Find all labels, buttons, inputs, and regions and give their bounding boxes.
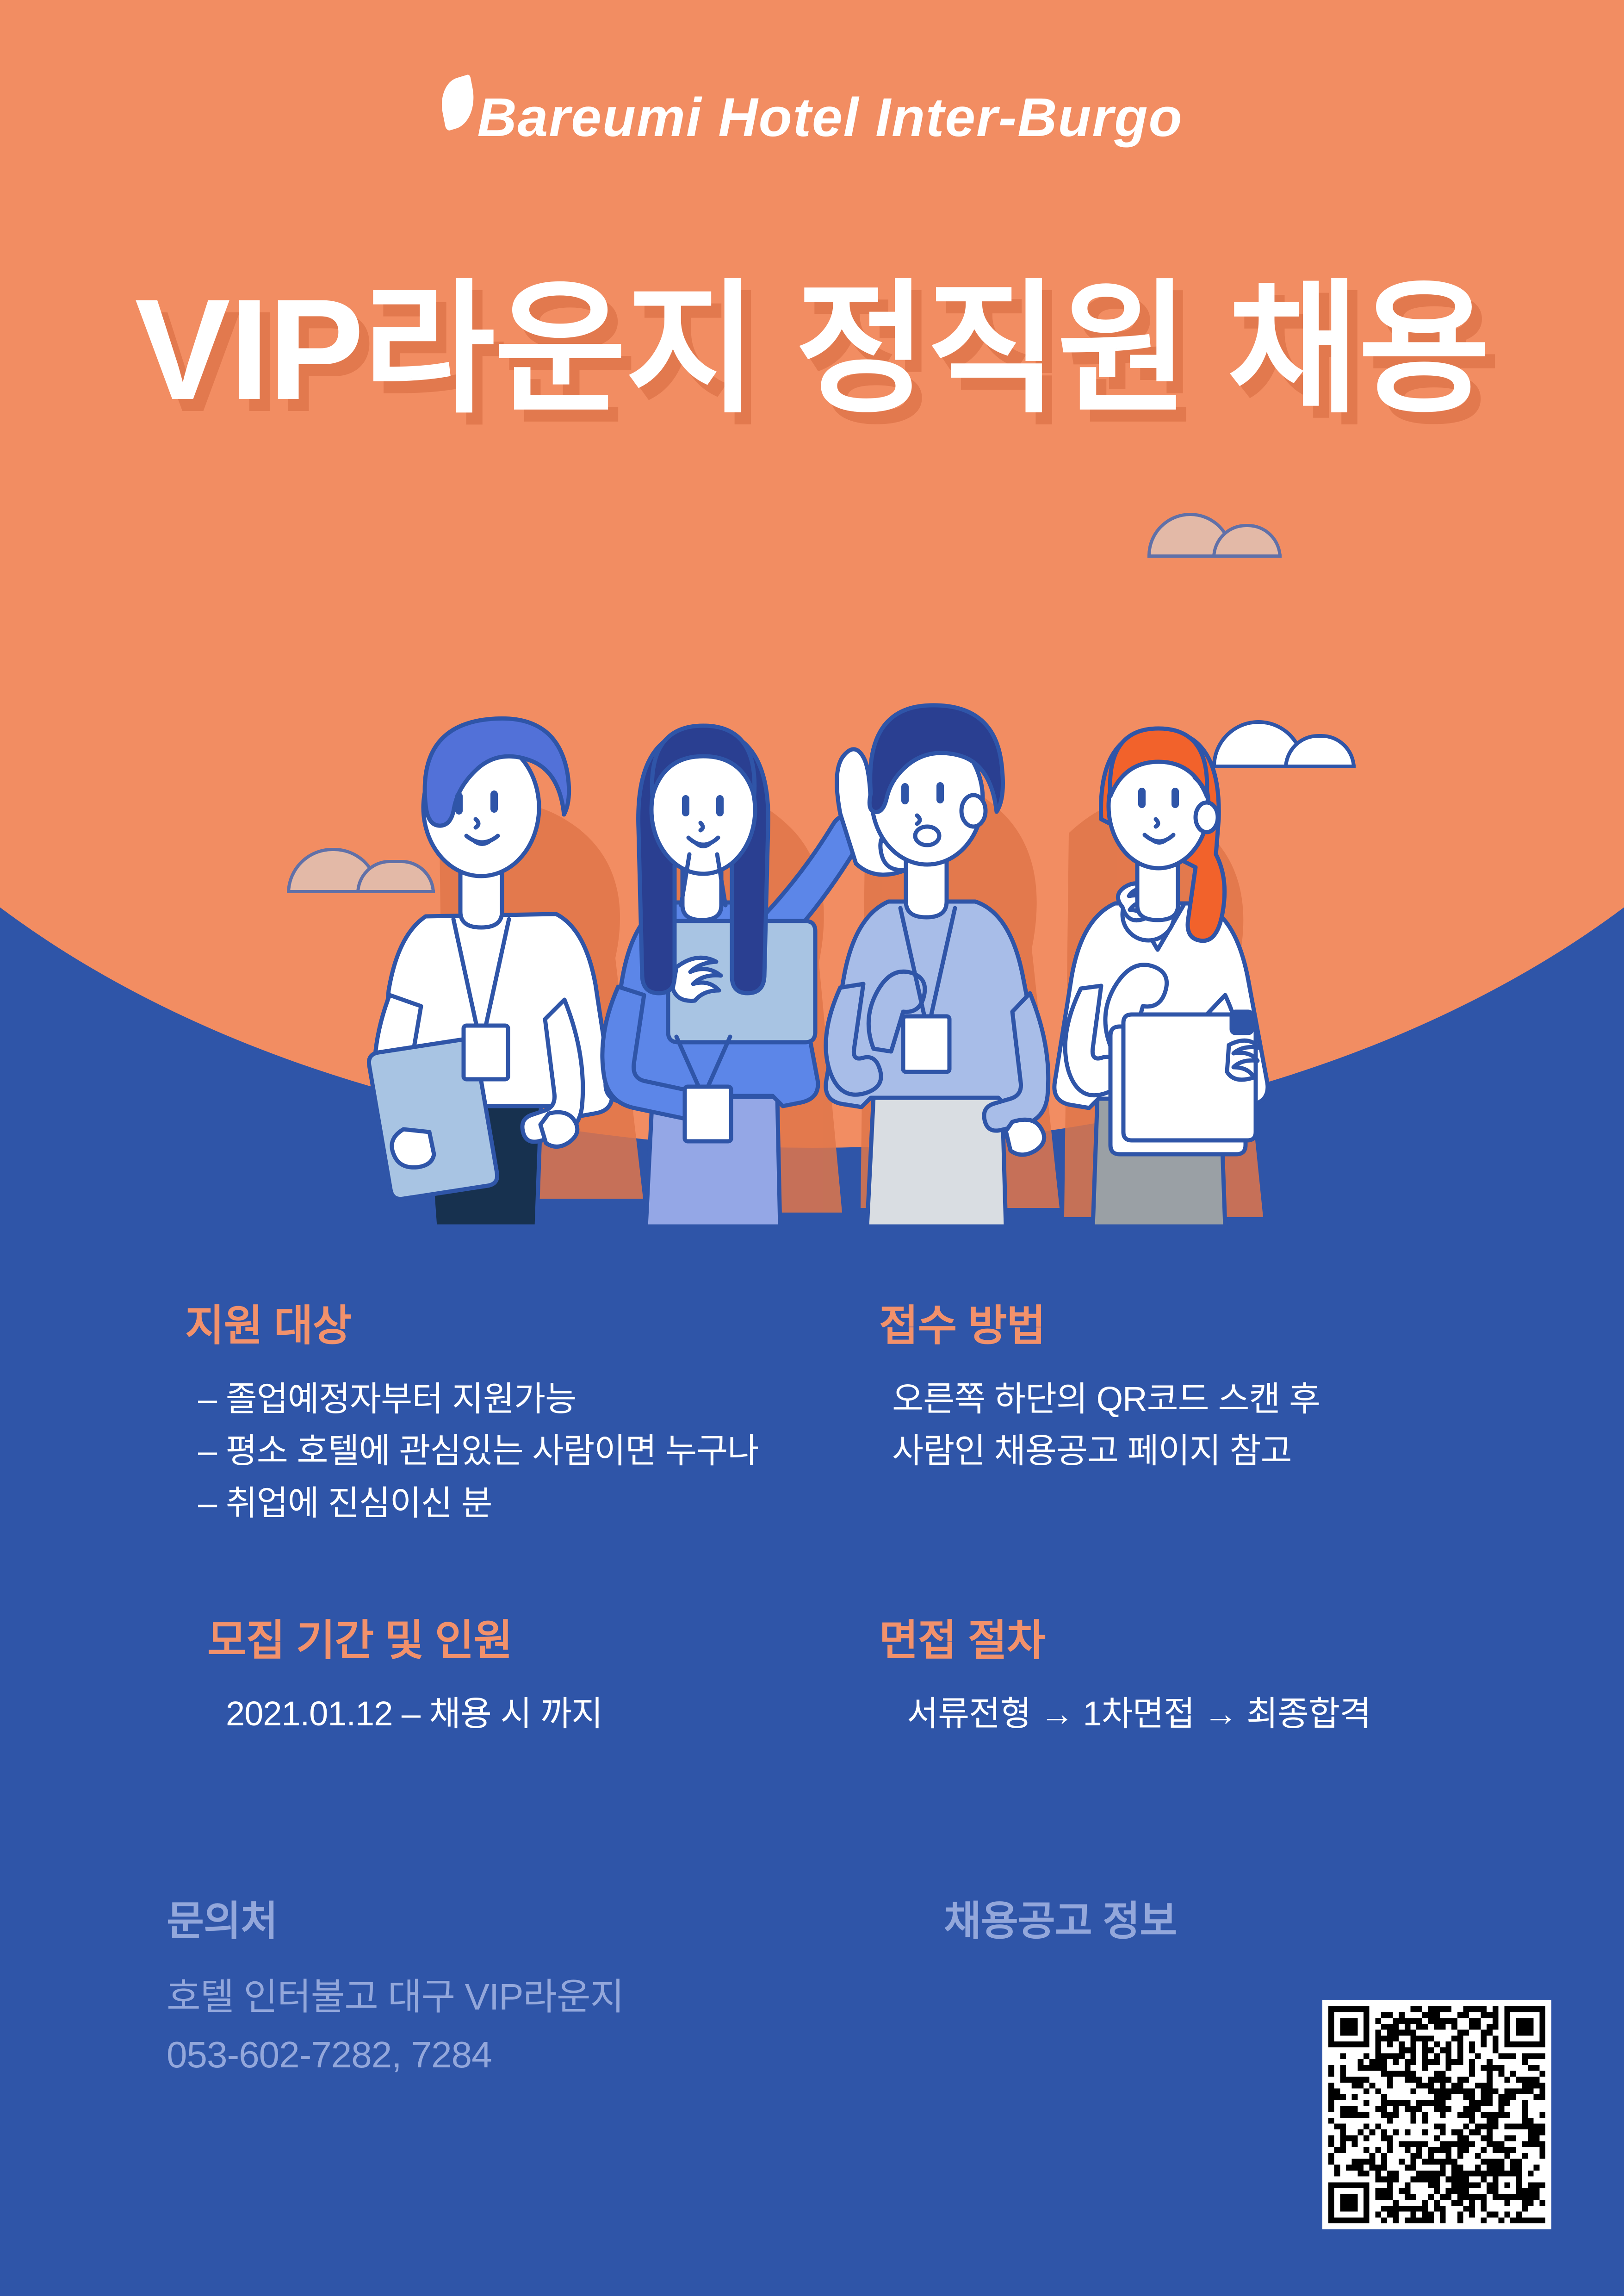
info-grid: 지원 대상 – 졸업예정자부터 지원가능 – 평소 호텔에 관심있는 사람이면 … bbox=[0, 1291, 1624, 1800]
list-item: – 졸업예정자부터 지원가능 bbox=[198, 1373, 879, 1425]
section-body: 오른쪽 하단의 QR코드 스캔 후 사람인 채용공고 페이지 참고 bbox=[879, 1373, 1550, 1477]
contact-details: 호텔 인터불고 대구 VIP라운지 053-602-7282, 7284 bbox=[167, 1968, 624, 2084]
list-item: 2021.01.12 – 채용 시 까지 bbox=[226, 1688, 901, 1740]
page-title: VIP라운지 정직원 채용 bbox=[0, 278, 1624, 421]
section-interview-process: 면접 절차 서류전형 → 1차면접 → 최종합격 bbox=[879, 1606, 1550, 1740]
section-body: 서류전형 → 1차면접 → 최종합격 bbox=[879, 1688, 1550, 1740]
section-heading: 모집 기간 및 인원 bbox=[207, 1606, 901, 1668]
list-item: 오른쪽 하단의 QR코드 스캔 후 bbox=[892, 1373, 1550, 1425]
section-heading: 접수 방법 bbox=[879, 1291, 1550, 1353]
section-body: 2021.01.12 – 채용 시 까지 bbox=[207, 1688, 901, 1740]
section-heading: 면접 절차 bbox=[879, 1606, 1550, 1668]
four-people-illustration bbox=[287, 643, 1314, 1226]
posting-heading: 채용공고 정보 bbox=[944, 1888, 1177, 1947]
list-item: 서류전형 → 1차면접 → 최종합격 bbox=[907, 1688, 1550, 1740]
leaf-icon bbox=[437, 74, 479, 131]
contact-block: 문의처 호텔 인터불고 대구 VIP라운지 053-602-7282, 7284 bbox=[167, 1888, 624, 2084]
section-body: – 졸업예정자부터 지원가능 – 평소 호텔에 관심있는 사람이면 누구나 – … bbox=[185, 1373, 879, 1529]
recruitment-poster: Bareumi Hotel Inter-Burgo VIP라운지 정직원 채용 bbox=[0, 0, 1624, 2296]
list-item: – 평소 호텔에 관심있는 사람이면 누구나 bbox=[198, 1425, 879, 1477]
list-item: 사람인 채용공고 페이지 참고 bbox=[892, 1425, 1550, 1477]
section-how-to-apply: 접수 방법 오른쪽 하단의 QR코드 스캔 후 사람인 채용공고 페이지 참고 bbox=[879, 1291, 1550, 1477]
brand-logo: Bareumi Hotel Inter-Burgo bbox=[0, 79, 1624, 149]
contact-location: 호텔 인터불고 대구 VIP라운지 bbox=[167, 1968, 624, 2026]
section-heading: 지원 대상 bbox=[185, 1291, 879, 1353]
list-item: – 취업에 진심이신 분 bbox=[198, 1477, 879, 1529]
brand-name: Bareumi Hotel Inter-Burgo bbox=[477, 86, 1183, 149]
qr-code[interactable] bbox=[1322, 2000, 1551, 2229]
posting-block: 채용공고 정보 bbox=[944, 1888, 1177, 1947]
cloud-dusty-right-icon bbox=[1147, 504, 1282, 558]
contact-heading: 문의처 bbox=[167, 1888, 624, 1947]
section-period-headcount: 모집 기간 및 인원 2021.01.12 – 채용 시 까지 bbox=[207, 1606, 901, 1740]
section-eligibility: 지원 대상 – 졸업예정자부터 지원가능 – 평소 호텔에 관심있는 사람이면 … bbox=[185, 1291, 879, 1529]
contact-phone[interactable]: 053-602-7282, 7284 bbox=[167, 2026, 624, 2084]
